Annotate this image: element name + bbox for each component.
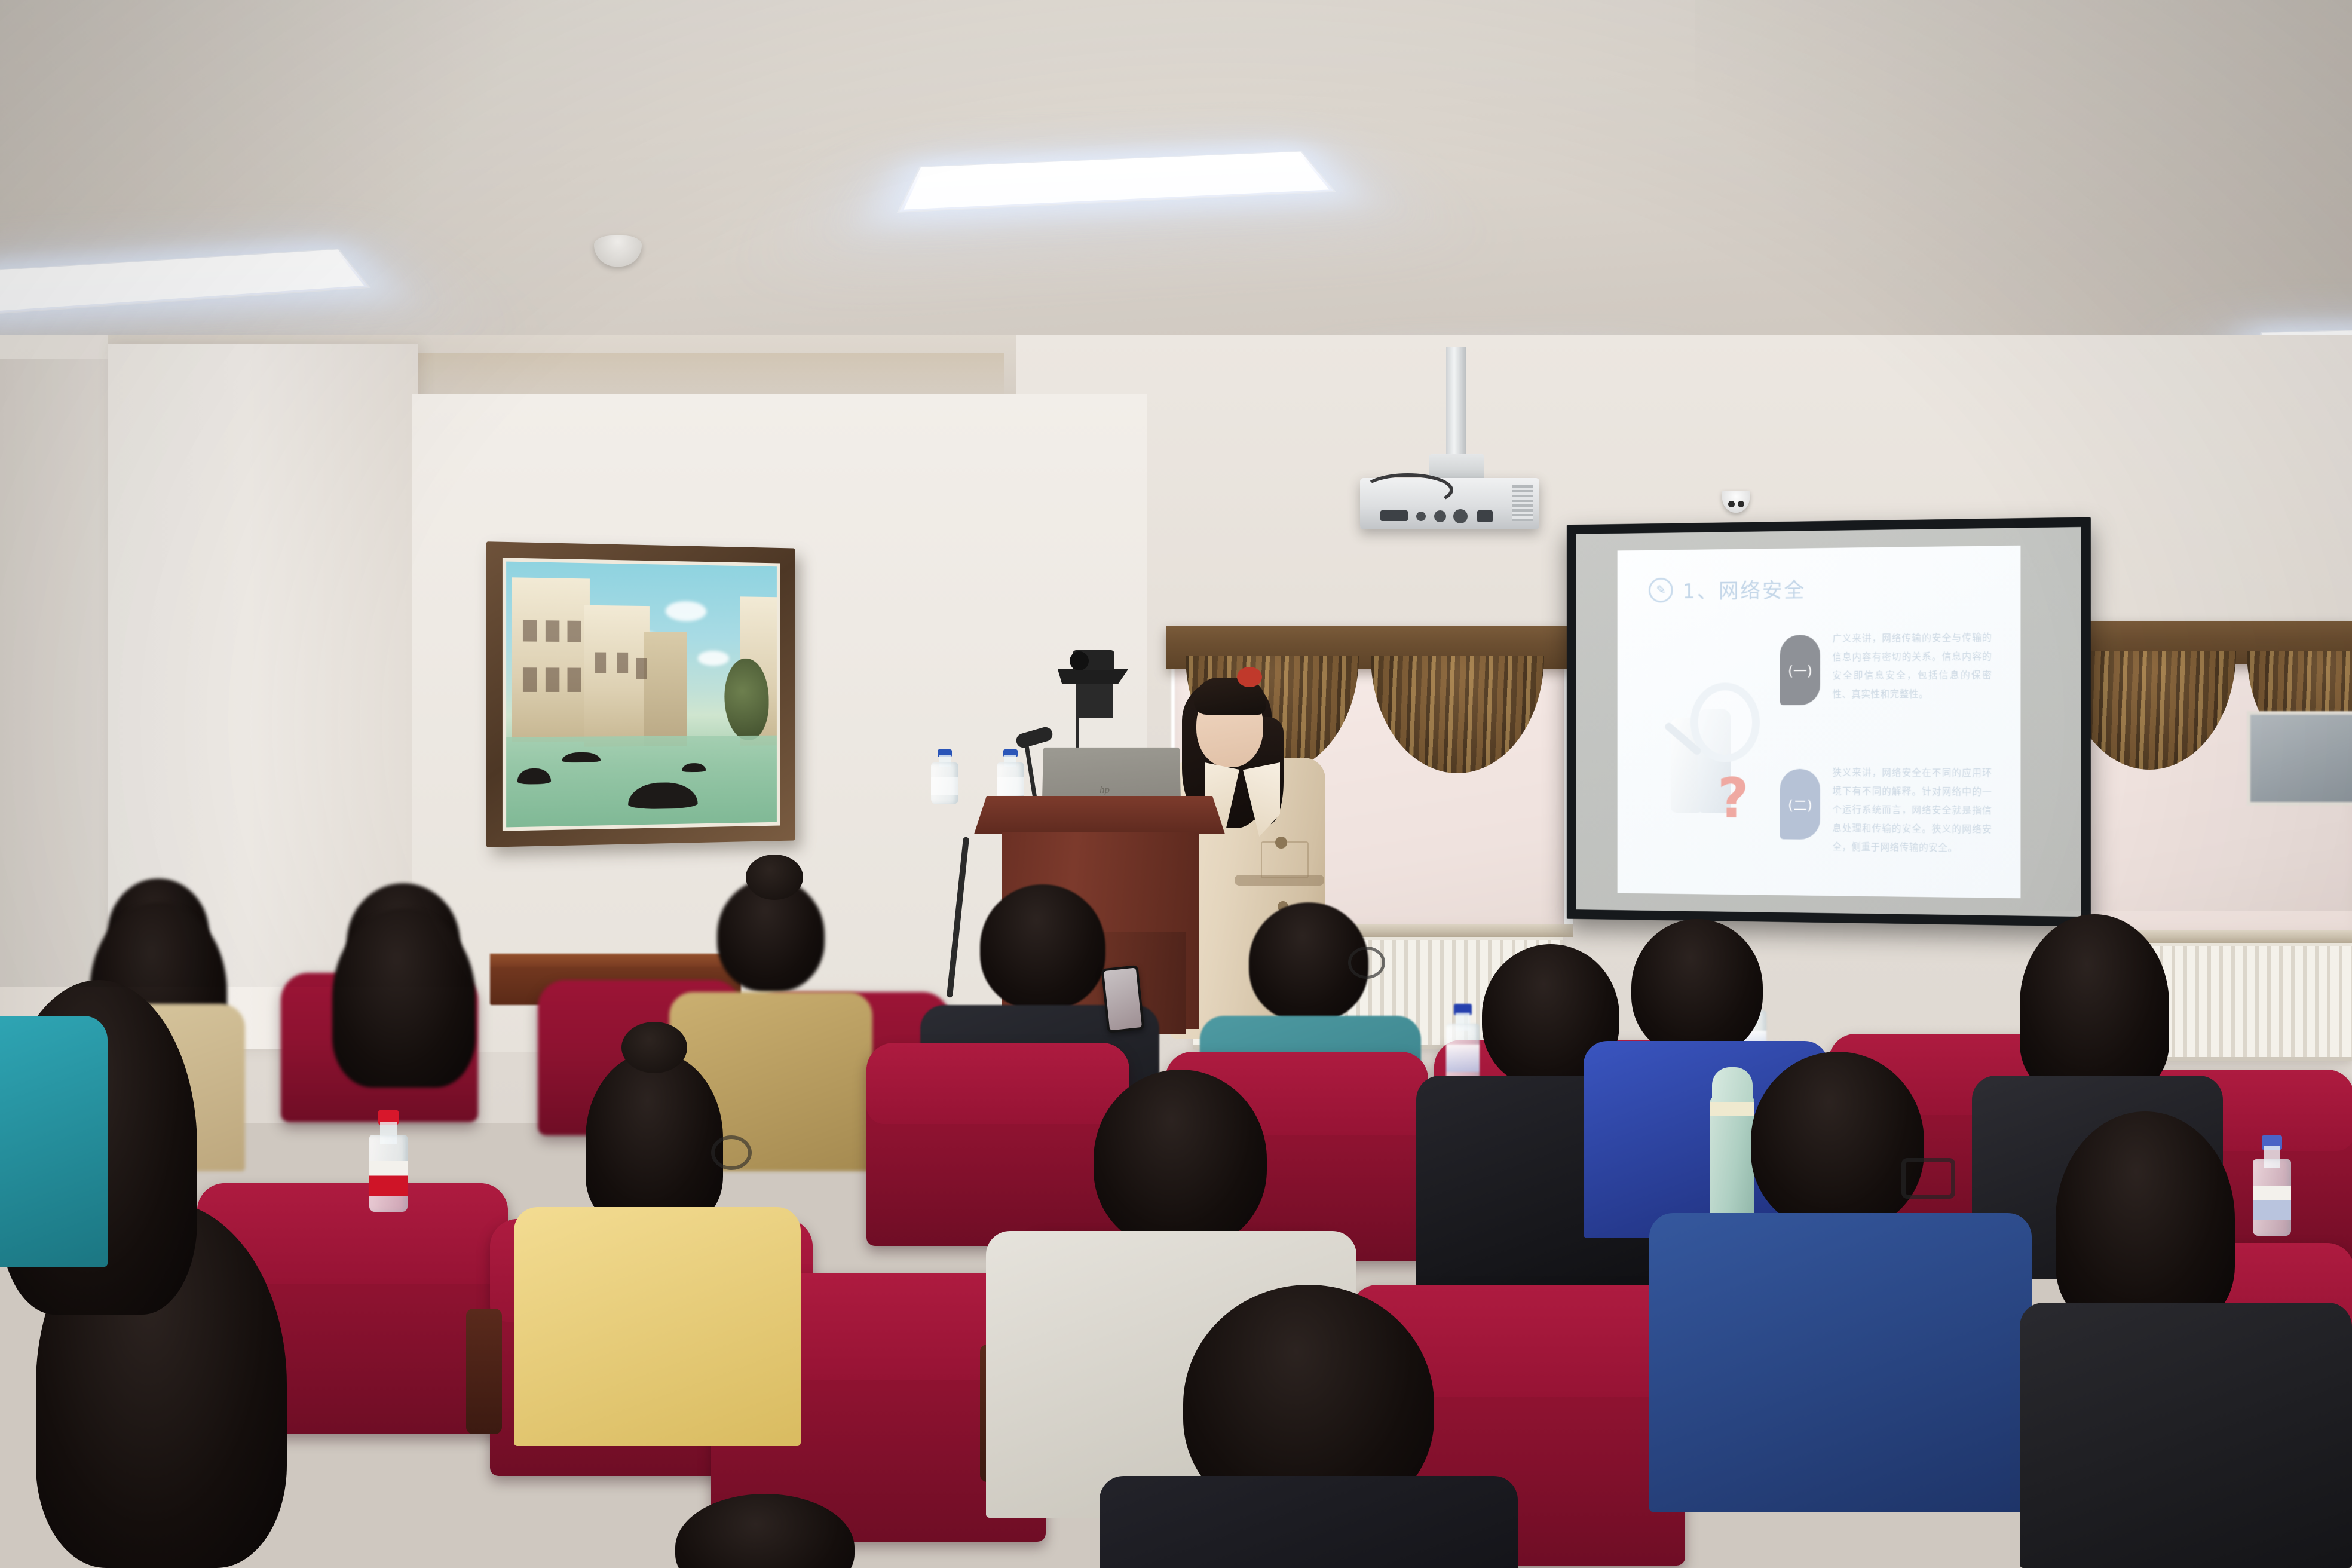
phone-screen [1104,967,1142,1030]
audience-glasses-icon-5 [1348,947,1385,979]
audience-head-10 [1094,1070,1267,1249]
audience-phone[interactable] [1101,965,1145,1033]
painting-mat [503,558,780,831]
lecture-hall-photo: ✎ 1、网络安全 ? (一) 广义来讲，网络传输的安全与传输的信息内容有密切的关… [0,0,2352,1568]
dome-camera-lens-2 [1738,501,1744,507]
presenter-hair-accessory [1237,667,1262,687]
presenter-coat-belt [1235,875,1324,886]
audience-hair-bun-3 [746,855,803,900]
audience-head-7 [1631,919,1763,1056]
audience-torso-9 [514,1207,801,1446]
audience-head-4 [980,884,1105,1010]
slide-title-row: ✎ 1、网络安全 [1649,574,1806,605]
podium-top [974,796,1225,834]
audience-bottle-nongfu-3 [2253,1135,2291,1236]
thermos-body [1710,1097,1754,1229]
wall-camera-bracket [1058,669,1128,684]
bottle-brand-label [369,1161,408,1196]
audience-head-9 [586,1052,723,1225]
presenter-coat-button-1 [1275,837,1287,849]
projection-screen-surface: ✎ 1、网络安全 ? (一) 广义来讲，网络传输的安全与传输的信息内容有密切的关… [1576,527,2081,917]
audience-glasses-icon-9 [711,1135,752,1170]
projector-vent [1512,485,1533,521]
audience-head-8 [2020,914,2169,1094]
audience-bottle-nongfu-1 [369,1110,408,1212]
projector-mount-pole [1446,347,1466,460]
question-mark-graphic: ? [1717,767,1748,831]
seat-mid-1 [866,1043,1129,1246]
thermos-ring [1710,1102,1754,1116]
audience-torso-15 [1100,1476,1518,1568]
soffit-stain [418,353,1004,400]
audience-hair-bun-9 [621,1022,687,1073]
audience-hair-2 [332,908,476,1088]
laptop-brand-logo: hp [1100,784,1123,795]
painting-canvas [506,562,777,828]
slide-paragraph-1: 广义来讲，网络传输的安全与传输的信息内容有密切的关系。信息内容的安全即信息安全，… [1832,629,1992,704]
slide-bullet-marker-1: (一) [1780,635,1821,705]
presentation-slide: ✎ 1、网络安全 ? (一) 广义来讲，网络传输的安全与传输的信息内容有密切的关… [1618,546,2021,899]
dome-camera-lens-1 [1728,501,1735,507]
audience-torso-12 [2020,1303,2352,1568]
seat-armrest-1 [466,1309,502,1434]
slide-bullet-marker-2: (二) [1780,768,1821,839]
wall-painting [486,541,795,847]
podium-bottle-2 [931,749,958,804]
audience-head-11 [1751,1052,1924,1231]
audience-head-12 [2056,1111,2235,1327]
audience-torso-14 [0,1016,108,1267]
thermos-cap [1712,1067,1753,1106]
slide-paragraph-2: 狭义来讲，网络安全在不同的应用环境下有不同的解释。针对网络中的一个运行系统而言，… [1832,764,1992,858]
audience-glasses-icon-11 [1901,1158,1955,1199]
slide-title: 1、网络安全 [1683,574,1806,605]
audience-thermos [1710,1067,1754,1229]
wall-camera-lens-icon [1070,651,1089,670]
small-framed-picture-right [2247,711,2352,806]
projector-cable [1362,473,1453,507]
pen-icon: ✎ [1649,578,1673,603]
projection-screen: ✎ 1、网络安全 ? (一) 广义来讲，网络传输的安全与传输的信息内容有密切的关… [1567,517,2091,926]
wall-camera-plate [1076,684,1113,718]
slide-illustration: ? [1649,677,1772,823]
audience-bottle-blue-1 [1446,1004,1480,1085]
